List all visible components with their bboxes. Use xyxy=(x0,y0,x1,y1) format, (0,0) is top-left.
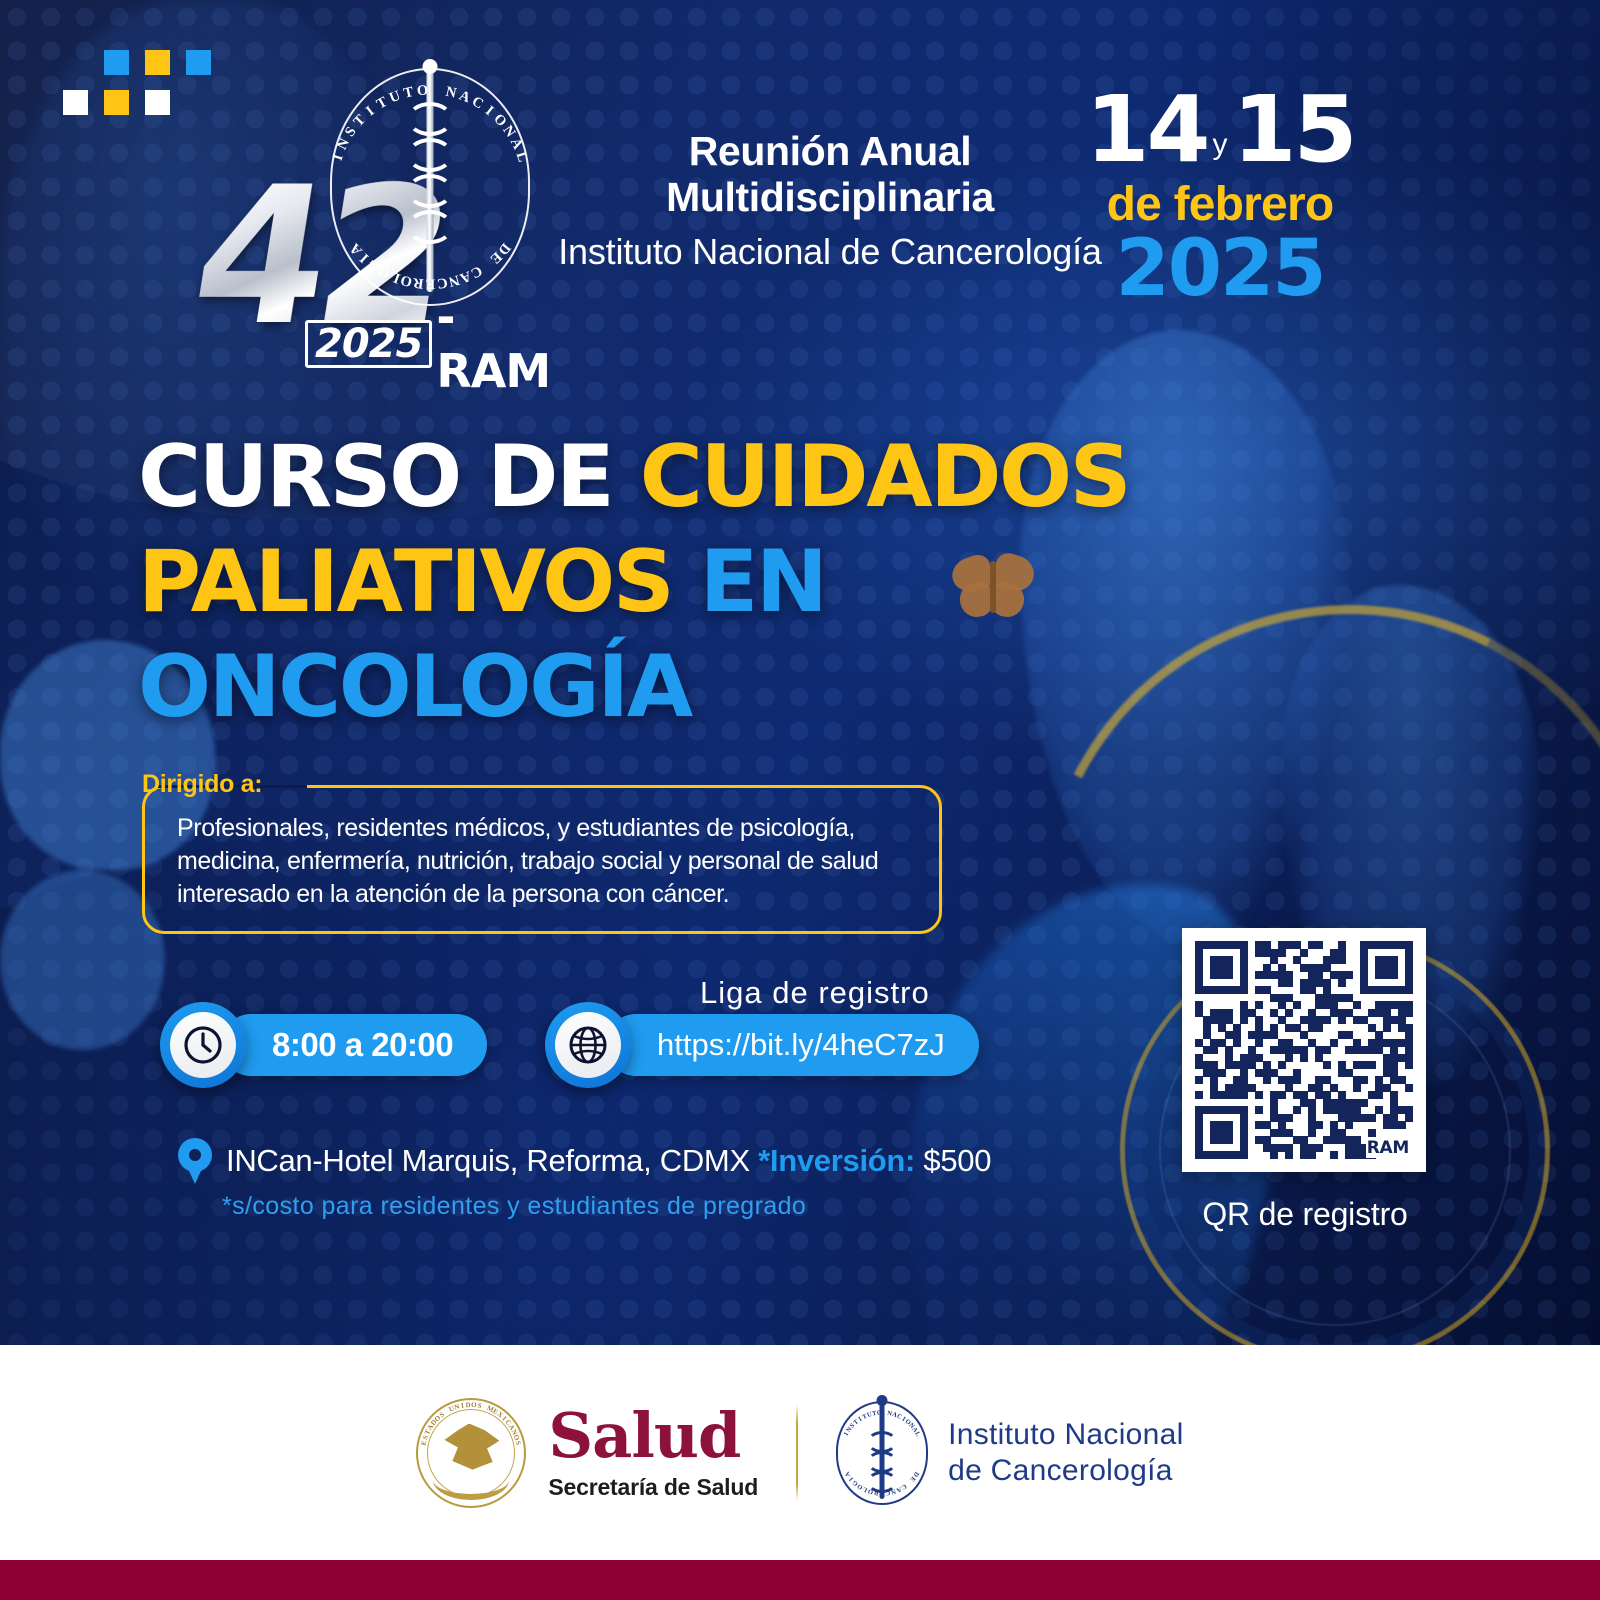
square-blue-1 xyxy=(104,50,129,75)
square-gold-1 xyxy=(145,50,170,75)
incan-seal-arc-text: INSTITUTO NACIONALDE CANCEROLOGIA xyxy=(836,1401,928,1505)
schedule-time: 8:00 a 20:00 xyxy=(272,1026,453,1064)
silhouette-patient-head xyxy=(0,870,165,1050)
title-part-en: EN xyxy=(700,532,826,632)
location-venue: INCan-Hotel Marquis, Reforma, CDMX xyxy=(226,1143,758,1178)
audience-box: Profesionales, residentes médicos, y est… xyxy=(142,785,942,934)
title-line-2: PALIATIVOS EN xyxy=(138,530,1138,635)
date-day-2: 15 xyxy=(1233,88,1355,173)
salud-subtitle: Secretaría de Salud xyxy=(548,1474,758,1501)
incan-name-line-2: de Cancerología xyxy=(948,1453,1184,1489)
schedule-pill[interactable]: 8:00 a 20:00 xyxy=(160,1010,487,1080)
qr-code-matrix: RAM xyxy=(1195,941,1413,1159)
incan-name: Instituto Nacional de Cancerología xyxy=(948,1417,1184,1489)
header-institution: Instituto Nacional de Cancerología xyxy=(520,228,1140,277)
audience-text: Profesionales, residentes médicos, y est… xyxy=(177,812,913,911)
location-text: INCan-Hotel Marquis, Reforma, CDMX *Inve… xyxy=(226,1143,991,1179)
incan-seal-footer-icon: INSTITUTO NACIONALDE CANCEROLOGIA xyxy=(836,1401,928,1505)
anniversary-logo: 42 INSTITUTO NACIONALDE CANCEROLOGIA 202… xyxy=(195,62,550,347)
registration-pill[interactable]: https://bit.ly/4heC7zJ xyxy=(545,1010,979,1080)
registration-pill-body[interactable]: https://bit.ly/4heC7zJ xyxy=(605,1014,979,1076)
mexican-coat-of-arms-icon: ESTADOS UNIDOS MEXICANOS xyxy=(416,1398,526,1508)
salud-logo: ESTADOS UNIDOS MEXICANOS Salud Secretarí… xyxy=(416,1398,758,1508)
decorative-squares xyxy=(58,50,208,116)
seal-arc-text: INSTITUTO NACIONALDE CANCEROLOGIA xyxy=(330,68,530,306)
title-part-oncologia: ONCOLOGÍA xyxy=(138,637,691,737)
logo-ram-text: - RAM xyxy=(436,290,550,398)
logo-year-ram: 2025 - RAM xyxy=(305,290,550,398)
header-line-2: Multidisciplinaria xyxy=(520,174,1140,220)
fee-label: *Inversión: xyxy=(758,1143,915,1178)
date-day-1: 14 xyxy=(1085,88,1207,173)
registration-caption: Liga de registro xyxy=(700,975,930,1011)
title-part-cuidados: CUIDADOS xyxy=(640,427,1129,527)
salud-title: Salud xyxy=(548,1405,758,1467)
event-date-block: 14 y 15 de febrero 2025 xyxy=(1055,88,1385,306)
square-white-2 xyxy=(145,90,170,115)
poster-root: 42 INSTITUTO NACIONALDE CANCEROLOGIA 202… xyxy=(0,0,1600,1600)
date-conjunction: y xyxy=(1213,131,1228,173)
square-white-1 xyxy=(63,90,88,115)
title-part-paliativos: PALIATIVOS xyxy=(138,532,700,632)
location-note: *s/costo para residentes y estudiantes d… xyxy=(222,1192,806,1221)
incan-logo: INSTITUTO NACIONALDE CANCEROLOGIA Instit… xyxy=(836,1401,1184,1505)
clock-icon xyxy=(160,1002,246,1088)
location-row: INCan-Hotel Marquis, Reforma, CDMX *Inve… xyxy=(178,1138,991,1184)
qr-caption: QR de registro xyxy=(1150,1196,1460,1233)
header-line-1: Reunión Anual xyxy=(520,128,1140,174)
title-part-curso-de: CURSO DE xyxy=(138,427,640,527)
footer-divider xyxy=(796,1405,798,1501)
schedule-pill-body: 8:00 a 20:00 xyxy=(220,1014,487,1076)
square-gold-2 xyxy=(104,90,129,115)
logo-year-badge: 2025 xyxy=(305,320,432,368)
qr-corner-label: RAM xyxy=(1366,1138,1410,1158)
course-title: CURSO DE CUIDADOS PALIATIVOS EN ONCOLOGÍ… xyxy=(138,425,1138,740)
map-pin-icon xyxy=(178,1138,212,1184)
date-year: 2025 xyxy=(1055,232,1385,306)
bottom-accent-bar xyxy=(0,1560,1600,1600)
title-line-3: ONCOLOGÍA xyxy=(138,635,1138,740)
qr-code[interactable]: RAM xyxy=(1182,928,1426,1172)
coat-of-arms-arc-text: ESTADOS UNIDOS MEXICANOS xyxy=(416,1398,526,1508)
incan-name-line-1: Instituto Nacional xyxy=(948,1417,1184,1453)
audience-label: Dirigido a: xyxy=(142,770,272,799)
footer-logos: ESTADOS UNIDOS MEXICANOS Salud Secretarí… xyxy=(0,1345,1600,1560)
audience-section: Dirigido a: Profesionales, residentes mé… xyxy=(142,770,942,934)
globe-icon xyxy=(545,1002,631,1088)
fee-value: $500 xyxy=(915,1143,991,1178)
registration-url[interactable]: https://bit.ly/4heC7zJ xyxy=(657,1027,945,1063)
incan-seal-icon: INSTITUTO NACIONALDE CANCEROLOGIA xyxy=(330,68,530,306)
event-header: Reunión Anual Multidisciplinaria Institu… xyxy=(520,128,1140,276)
title-line-1: CURSO DE CUIDADOS xyxy=(138,425,1138,530)
